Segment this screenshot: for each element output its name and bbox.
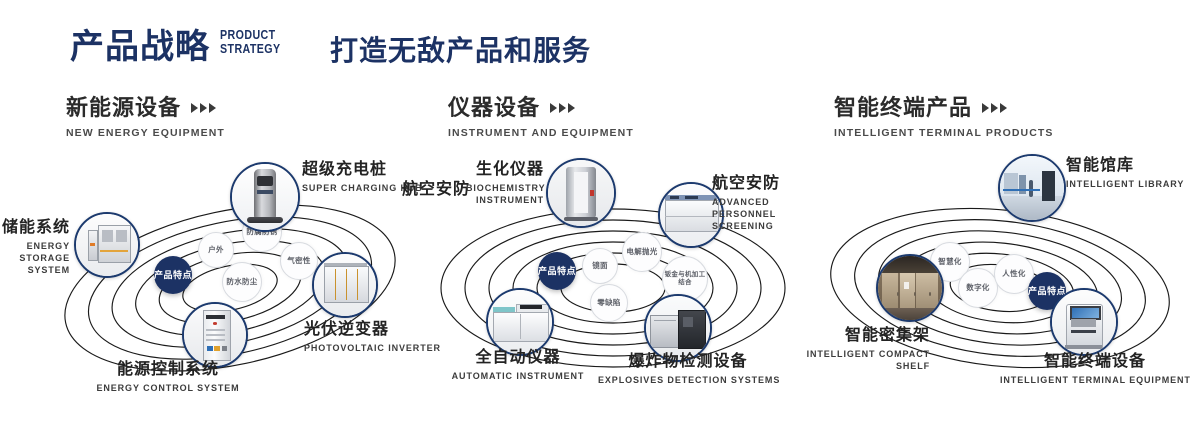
label-terminal-kiosk: 智能终端设备 INTELLIGENT TERMINAL EQUIPMENT <box>1000 352 1190 386</box>
section-header-intelligent-terminal: 智能终端产品 INTELLIGENT TERMINAL PRODUCTS <box>834 94 1054 139</box>
label-automatic-instrument: 全自动仪器 AUTOMATIC INSTRUMENT <box>438 348 598 382</box>
feature-bubble-outdoor: 户外 <box>198 232 234 268</box>
node-energy-storage[interactable] <box>74 212 140 278</box>
inverter-photo <box>314 254 376 316</box>
diagram-new-energy: 产品特点 户外 防腐防锈 防水防尘 气密性 超级充电桩 SUPER CHARGI… <box>40 160 420 400</box>
page-title-en: PRODUCT STRATEGY <box>220 28 281 56</box>
section-title-cn: 智能终端产品 <box>834 94 972 122</box>
page-header: 产品战略 PRODUCT STRATEGY <box>70 26 294 68</box>
compact-shelf-photo <box>878 256 942 320</box>
node-terminal-kiosk[interactable] <box>1050 288 1118 356</box>
core-badge-instrument: 产品特点 <box>538 252 576 290</box>
label-explosives-detection: 爆炸物检测设备 EXPLOSIVES DETECTION SYSTEMS <box>598 352 778 386</box>
library-photo <box>1000 156 1064 220</box>
diagram-instrument: 产品特点 镜面 电解抛光 钣金与机加工结合 零缺陷 航空安防 生化仪器 BIOC… <box>418 160 808 400</box>
explosives-detector-photo <box>646 296 710 360</box>
node-intelligent-library[interactable] <box>998 154 1066 222</box>
node-energy-control[interactable] <box>182 302 248 368</box>
label-aviation-security-left: 航空安防 <box>388 180 470 200</box>
chevron-right-icon <box>191 103 216 113</box>
section-header-new-energy: 新能源设备 NEW ENERGY EQUIPMENT <box>66 94 225 139</box>
charging-pile-photo <box>232 164 298 230</box>
label-energy-control: 能源控制系统 ENERGY CONTROL SYSTEM <box>78 360 258 394</box>
node-photovoltaic-inverter[interactable] <box>312 252 378 318</box>
page-title-en-line2: STRATEGY <box>220 42 281 56</box>
page-slogan: 打造无敌产品和服务 <box>330 32 591 70</box>
section-title-cn: 仪器设备 <box>448 94 540 122</box>
section-header-instrument: 仪器设备 INSTRUMENT AND EQUIPMENT <box>448 94 634 139</box>
label-intelligent-library: 智能馆库 INTELLIGENT LIBRARY <box>1066 156 1184 190</box>
chevron-right-icon <box>982 103 1007 113</box>
feature-bubble-digital: 数字化 <box>958 268 998 308</box>
feature-bubble-zero-defect: 零缺陷 <box>590 284 628 322</box>
feature-bubble-mirror: 镜面 <box>582 248 618 284</box>
node-compact-shelf[interactable] <box>876 254 944 322</box>
node-biochemistry-instrument[interactable] <box>546 158 616 228</box>
section-title-en: INTELLIGENT TERMINAL PRODUCTS <box>834 127 1054 139</box>
page-title-cn: 产品战略 <box>70 26 210 68</box>
core-badge-new-energy: 产品特点 <box>154 256 192 294</box>
control-rack-photo <box>184 304 246 366</box>
chevron-right-icon <box>550 103 575 113</box>
terminal-kiosk-photo <box>1052 290 1116 354</box>
page-title-en-line1: PRODUCT <box>220 28 281 42</box>
feature-bubble-waterproof: 防水防尘 <box>222 262 262 302</box>
section-title-cn: 新能源设备 <box>66 94 181 122</box>
node-charging-pile[interactable] <box>230 162 300 232</box>
label-compact-shelf: 智能密集架 INTELLIGENT COMPACT SHELF <box>790 326 930 372</box>
node-automatic-instrument[interactable] <box>486 288 554 356</box>
diagram-intelligent-terminal: 智慧化 数字化 人性化 产品特点 智能馆库 INTELLIGENT LIBRAR… <box>810 160 1190 400</box>
scanner-arch-photo <box>548 160 614 226</box>
automatic-instrument-photo <box>488 290 552 354</box>
label-biochemistry-instrument: 生化仪器 BIOCHEMISTRY INSTRUMENT <box>466 160 544 206</box>
product-strategy-infographic: 产品战略 PRODUCT STRATEGY 打造无敌产品和服务 新能源设备 NE… <box>0 0 1200 422</box>
label-advanced-personnel-screening: 航空安防 ADVANCED PERSONNEL SCREENING <box>712 174 808 232</box>
feature-bubble-electropolishing: 电解抛光 <box>622 232 662 272</box>
section-title-en: NEW ENERGY EQUIPMENT <box>66 127 225 139</box>
battery-cabinet-photo <box>76 214 138 276</box>
label-energy-storage: 储能系统 ENERGY STORAGE SYSTEM <box>0 218 70 276</box>
section-title-en: INSTRUMENT AND EQUIPMENT <box>448 127 634 139</box>
feature-bubble-airtight: 气密性 <box>280 242 318 280</box>
